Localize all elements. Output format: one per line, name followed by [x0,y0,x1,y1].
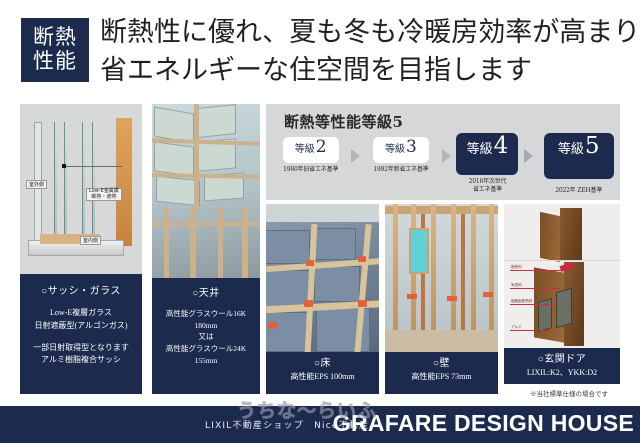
sash-diagram-photo: 室外側 Low-E金属膜 断熱・遮熱 室内側 [20,104,142,274]
grade-caption-2: 1980年旧省エネ基準 [274,166,347,174]
headline-line-1: 断熱性に優れ、夏も冬も冷暖房効率が高まり [100,17,640,48]
floor-title: ○床 [268,356,377,371]
grade-caption-3: 1992年新省エネ基準 [364,166,437,174]
ceiling-line-3: 又は [155,331,257,343]
window-cross-section-illustration: 室外側 Low-E金属膜 断熱・遮熱 室内側 [20,104,142,274]
ceiling-line-5: 155mm [155,355,257,367]
arrow-icon-3 [524,149,533,163]
ceiling-line-2: 180mm [155,320,257,332]
floor-photo [266,204,379,352]
headline-line-2: 省エネルギーな住空間を目指します [100,52,635,90]
panel-ceiling: ○天井 高性能グラスウール16K 180mm 又は 高性能グラスウール24K 1… [152,104,260,394]
ceiling-line-4: 高性能グラスウール24K [155,343,257,355]
badge-line-2: 性能 [33,50,77,74]
wall-title: ○壁 [387,356,496,371]
wall-photo [385,204,498,352]
sash-caption: ○サッシ・ガラス Low-E複層ガラス 日射遮蔽型(アルゴンガス) 一部日射取得… [20,274,142,394]
insulation-badge: 断熱 性能 [21,18,89,82]
ceiling-line-1: 高性能グラスウール16K [155,308,257,320]
grade-caption-4: 2016年次世代 省エネ基準 [455,178,521,193]
sash-line-3: 一部日射取得型となります [24,342,138,355]
grade-step-2: 等級2 1980年旧省エネ基準 [274,133,347,174]
grade-steps: 等級2 1980年旧省エネ基準 等級3 1992年新省エネ基準 等級4 [274,133,620,197]
grade-title: 断熱等性能等級5 [284,111,403,132]
ceiling-photo [152,104,260,278]
badge-line-1: 断熱 [33,26,77,50]
grade-caption-5: 2022年 ZEH基準 [537,187,620,195]
door-caption: ○玄関ドア LIXIL:K2、YKK:D2 [504,348,620,384]
grade-step-3: 等級3 1992年新省エネ基準 [364,133,437,174]
door-line-1: LIXIL:K2、YKK:D2 [506,367,618,380]
ceiling-title: ○天井 [155,286,257,301]
arrow-icon-2 [442,149,451,163]
poster-root: 断熱 性能 断熱性に優れ、夏も冬も冷暖房効率が高まり 省エネルギーな住空間を目指… [0,0,640,443]
panel-floor: ○床 高性能EPS 100mm [266,204,379,394]
grade-chip-4: 等級4 [456,133,518,175]
grade-chip-2: 等級2 [283,137,339,163]
wall-line-1: 高性能EPS 73mm [387,371,496,384]
grade-step-5: 等級5 2022年 ZEH基準 [537,133,620,195]
sash-line-1: Low-E複層ガラス [24,307,138,320]
ceiling-insulation-illustration [152,104,260,278]
panel-sash-glass: 室外側 Low-E金属膜 断熱・遮熱 室内側 ○サッシ・ガラス Low-E複層ガ… [20,104,142,394]
grade-chip-5: 等級5 [544,133,614,179]
wall-caption: ○壁 高性能EPS 73mm [385,352,498,394]
wall-framing-illustration [385,204,498,352]
grade-chip-3: 等級3 [373,137,429,163]
grade-step-4: 等級4 2016年次世代 省エネ基準 [455,133,521,193]
label-lowe: Low-E金属膜 断熱・遮熱 [86,188,122,201]
label-inside: 室内側 [80,236,101,245]
sash-title: ○サッシ・ガラス [24,284,138,299]
headline: 断熱性に優れ、夏も冬も冷暖房効率が高まり 省エネルギーな住空間を目指します [100,14,635,91]
disclaimer-note: ※当社標準仕様の場合です [500,388,638,398]
door-title: ○玄関ドア [506,352,618,367]
floor-insulation-illustration [266,204,379,352]
floor-line-1: 高性能EPS 100mm [268,371,377,384]
header: 断熱 性能 断熱性に優れ、夏も冬も冷暖房効率が高まり 省エネルギーな住空間を目指… [0,0,640,100]
footer-brand: GRAFARE DESIGN HOUSE [333,410,634,437]
door-photo: 断熱材 気密材 樹脂製断熱枠 アルミ [504,204,620,348]
arrow-icon-1 [351,149,360,163]
ceiling-caption: ○天井 高性能グラスウール16K 180mm 又は 高性能グラスウール24K 1… [152,278,260,394]
sash-line-4: アルミ樹脂複合サッシ [24,354,138,367]
sash-line-2: 日射遮蔽型(アルゴンガス) [24,320,138,333]
panel-door: 断熱材 気密材 樹脂製断熱枠 アルミ ○玄関ドア LIXIL:K2、YKK:D2 [504,204,620,394]
door-cross-section-illustration: 断熱材 気密材 樹脂製断熱枠 アルミ [504,204,620,348]
label-outside: 室外側 [26,180,47,189]
grade-band: 断熱等性能等級5 等級2 1980年旧省エネ基準 等級3 1992年新省エネ基準 [266,104,620,200]
floor-caption: ○床 高性能EPS 100mm [266,352,379,394]
panel-wall: ○壁 高性能EPS 73mm [385,204,498,394]
content-grid: 室外側 Low-E金属膜 断熱・遮熱 室内側 ○サッシ・ガラス Low-E複層ガ… [0,104,640,399]
photo-row: ○床 高性能EPS 100mm [266,204,620,394]
footer-bar: LIXIL不動産ショップ Nice不動産 GRAFARE DESIGN HOUS… [0,406,640,443]
